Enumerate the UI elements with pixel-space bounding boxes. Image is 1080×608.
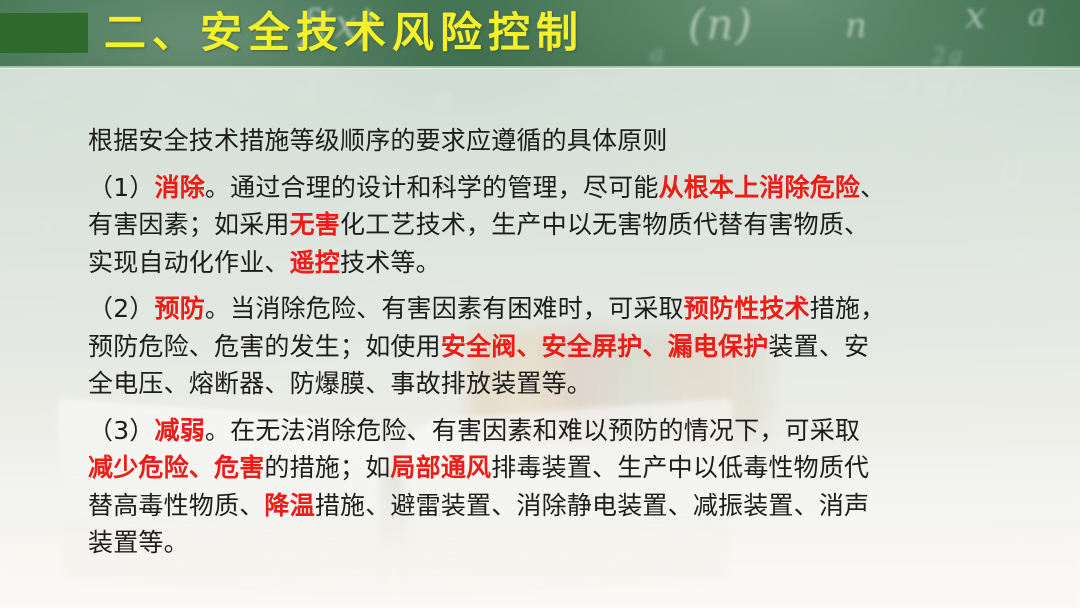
highlighted-text: 降温	[264, 491, 314, 520]
body-text: 替高毒性物质、	[88, 491, 264, 520]
body-text: （3）	[88, 416, 155, 445]
page-title: 二、安全技术风险控制	[104, 2, 584, 64]
body-text: 装置等。	[88, 528, 189, 557]
highlighted-text: 局部通风	[390, 453, 491, 482]
highlighted-text: 无害	[290, 210, 340, 239]
highlighted-text: 安全阀、安全屏护、漏电保护	[441, 332, 769, 361]
paragraph-intro: 根据安全技术措施等级顺序的要求应遵循的具体原则	[88, 122, 1008, 160]
paragraph-gap	[88, 403, 1008, 412]
header-accent-chip	[0, 13, 88, 53]
paragraph-item-1: （1）消除。通过合理的设计和科学的管理，尽可能从根本上消除危险、有害因素；如采用…	[88, 169, 1008, 282]
body-text: 。通过合理的设计和科学的管理，尽可能	[205, 173, 659, 202]
paragraph-gap	[88, 160, 1008, 169]
text-line: （1）消除。通过合理的设计和科学的管理，尽可能从根本上消除危险、	[88, 169, 1008, 207]
highlighted-text: 从根本上消除危险	[659, 173, 861, 202]
body-text: （2）	[88, 294, 155, 323]
body-text: 。当消除危险、有害因素有困难时，可采取	[205, 294, 684, 323]
body-text: 化工艺技术，生产中以无害物质代替有害物质、	[340, 210, 869, 239]
highlighted-text: 减少危险、危害	[88, 453, 264, 482]
body-text: 排毒装置、生产中以低毒性物质代	[491, 453, 869, 482]
text-line: 实现自动化作业、遥控技术等。	[88, 244, 1008, 282]
body-text: 实现自动化作业、	[88, 248, 290, 277]
slide-canvas: f(x)(n)nxa2gaaaxdaathenP=2πr1x02x 二、安全技术…	[0, 0, 1080, 608]
text-line: 预防危险、危害的发生；如使用安全阀、安全屏护、漏电保护装置、安	[88, 328, 1008, 366]
body-text: 根据安全技术措施等级顺序的要求应遵循的具体原则	[88, 126, 668, 155]
body-text: 措施，	[810, 294, 886, 323]
header-divider	[0, 66, 1080, 69]
paragraph-gap	[88, 281, 1008, 290]
text-line: 根据安全技术措施等级顺序的要求应遵循的具体原则	[88, 122, 1008, 160]
highlighted-text: 减弱	[155, 416, 205, 445]
body-text: 的措施；如	[264, 453, 390, 482]
body-text: 全电压、熔断器、防爆膜、事故排放装置等。	[88, 369, 592, 398]
body-text: 、	[860, 173, 885, 202]
body-text: 措施、避雷装置、消除静电装置、减振装置、消声	[315, 491, 869, 520]
text-line: 全电压、熔断器、防爆膜、事故排放装置等。	[88, 365, 1008, 403]
body-text: 预防危险、危害的发生；如使用	[88, 332, 441, 361]
slide-body: 根据安全技术措施等级顺序的要求应遵循的具体原则（1）消除。通过合理的设计和科学的…	[88, 122, 1008, 562]
body-text: 装置、安	[768, 332, 869, 361]
body-text: 。在无法消除危险、有害因素和难以预防的情况下，可采取	[205, 416, 860, 445]
highlighted-text: 消除	[155, 173, 205, 202]
paragraph-item-3: （3）减弱。在无法消除危险、有害因素和难以预防的情况下，可采取减少危险、危害的措…	[88, 412, 1008, 562]
body-text: （1）	[88, 173, 155, 202]
text-line: 装置等。	[88, 524, 1008, 562]
text-line: 替高毒性物质、降温措施、避雷装置、消除静电装置、减振装置、消声	[88, 487, 1008, 525]
highlighted-text: 遥控	[290, 248, 340, 277]
slide-header: 二、安全技术风险控制	[0, 0, 1080, 68]
text-line: 减少危险、危害的措施；如局部通风排毒装置、生产中以低毒性物质代	[88, 449, 1008, 487]
highlighted-text: 预防	[155, 294, 205, 323]
text-line: 有害因素；如采用无害化工艺技术，生产中以无害物质代替有害物质、	[88, 206, 1008, 244]
text-line: （3）减弱。在无法消除危险、有害因素和难以预防的情况下，可采取	[88, 412, 1008, 450]
paragraph-item-2: （2）预防。当消除危险、有害因素有困难时，可采取预防性技术措施，预防危险、危害的…	[88, 290, 1008, 403]
highlighted-text: 预防性技术	[684, 294, 810, 323]
body-text: 技术等。	[340, 248, 441, 277]
body-text: 有害因素；如采用	[88, 210, 290, 239]
text-line: （2）预防。当消除危险、有害因素有困难时，可采取预防性技术措施，	[88, 290, 1008, 328]
